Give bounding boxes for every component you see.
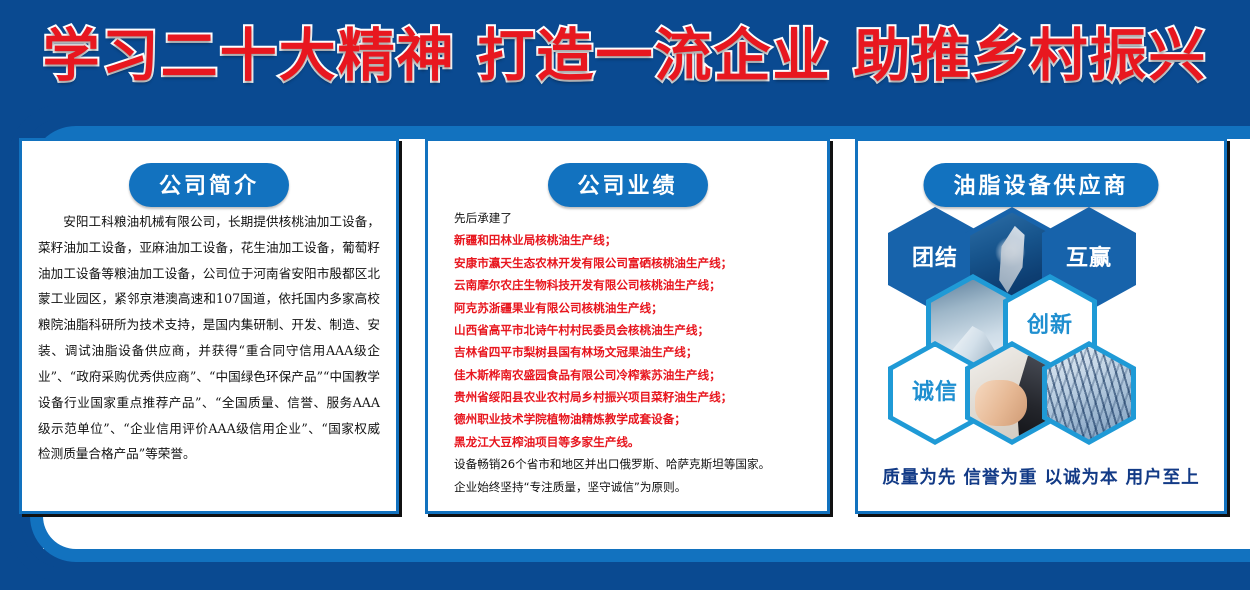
performance-project-item: 阿克苏浙疆果业有限公司核桃油生产线；: [454, 297, 813, 319]
skyscraper-photo-icon: [1047, 347, 1131, 440]
panel-supplier-values: 油脂设备供应商 团结互赢创新诚信 质量为先 信誉为重 以诚为本 用户至上: [855, 138, 1227, 514]
hex-photo-inner: [1047, 347, 1131, 440]
badge-company-performance: 公司业绩: [547, 163, 707, 207]
badge-company-intro: 公司简介: [129, 163, 289, 207]
performance-project-item: 佳木斯桦南农盛园食品有限公司冷榨紫苏油生产线；: [454, 364, 813, 386]
hex-label: 诚信: [912, 382, 958, 404]
header-banner: 学习二十大精神 打造一流企业 助推乡村振兴: [0, 0, 1250, 112]
panels-row: 公司简介 安阳工科粮油机械有限公司，长期提供核桃油加工设备，菜籽油加工设备，亚麻…: [14, 138, 1240, 520]
panel-company-intro: 公司简介 安阳工科粮油机械有限公司，长期提供核桃油加工设备，菜籽油加工设备，亚麻…: [19, 138, 399, 514]
hex-label: 团结: [912, 248, 958, 270]
performance-project-item: 德州职业技术学院植物油精炼教学成套设备；: [454, 408, 813, 430]
supplier-tagline: 质量为先 信誉为重 以诚为本 用户至上: [858, 464, 1224, 489]
performance-project-item: 新疆和田林业局核桃油生产线；: [454, 229, 813, 251]
hex-label: 互赢: [1066, 248, 1112, 270]
hex-label: 创新: [1027, 315, 1073, 337]
page-title: 学习二十大精神 打造一流企业 助推乡村振兴: [43, 28, 1208, 85]
hex-photo-inner: [970, 347, 1054, 440]
performance-project-item: 安康市瀛天生态农林开发有限公司富硒核桃油生产线；: [454, 252, 813, 274]
hexagon-honeycomb: 团结互赢创新诚信: [858, 201, 1224, 451]
company-intro-text: 安阳工科粮油机械有限公司，长期提供核桃油加工设备，菜籽油加工设备，亚麻油加工设备…: [38, 209, 380, 467]
performance-footer: 设备畅销26个省市和地区并出口俄罗斯、哈萨克斯坦等国家。企业始终坚持“专注质量，…: [454, 453, 813, 498]
company-performance-text: 先后承建了 新疆和田林业局核桃油生产线；安康市瀛天生态农林开发有限公司富硒核桃油…: [454, 207, 813, 498]
performance-project-item: 黑龙江大豆榨油项目等多家生产线。: [454, 431, 813, 453]
performance-intro: 先后承建了: [454, 207, 813, 229]
poster-board: 学习二十大精神 打造一流企业 助推乡村振兴 公司简介 安阳工科粮油机械有限公司，…: [0, 0, 1250, 590]
handshake-photo-icon: [970, 347, 1054, 440]
performance-project-item: 吉林省四平市梨树县国有林场文冠果油生产线；: [454, 341, 813, 363]
performance-footer-line: 企业始终坚持“专注质量，坚守诚信”为原则。: [454, 476, 813, 498]
panel-company-performance: 公司业绩 先后承建了 新疆和田林业局核桃油生产线；安康市瀛天生态农林开发有限公司…: [425, 138, 830, 514]
performance-project-item: 山西省高平市北诗午村村民委员会核桃油生产线；: [454, 319, 813, 341]
performance-project-item: 贵州省绥阳县农业农村局乡村振兴项目菜籽油生产线；: [454, 386, 813, 408]
performance-project-list: 新疆和田林业局核桃油生产线；安康市瀛天生态农林开发有限公司富硒核桃油生产线；云南…: [454, 229, 813, 453]
performance-project-item: 云南摩尔农庄生物科技开发有限公司核桃油生产线；: [454, 274, 813, 296]
performance-footer-line: 设备畅销26个省市和地区并出口俄罗斯、哈萨克斯坦等国家。: [454, 453, 813, 475]
